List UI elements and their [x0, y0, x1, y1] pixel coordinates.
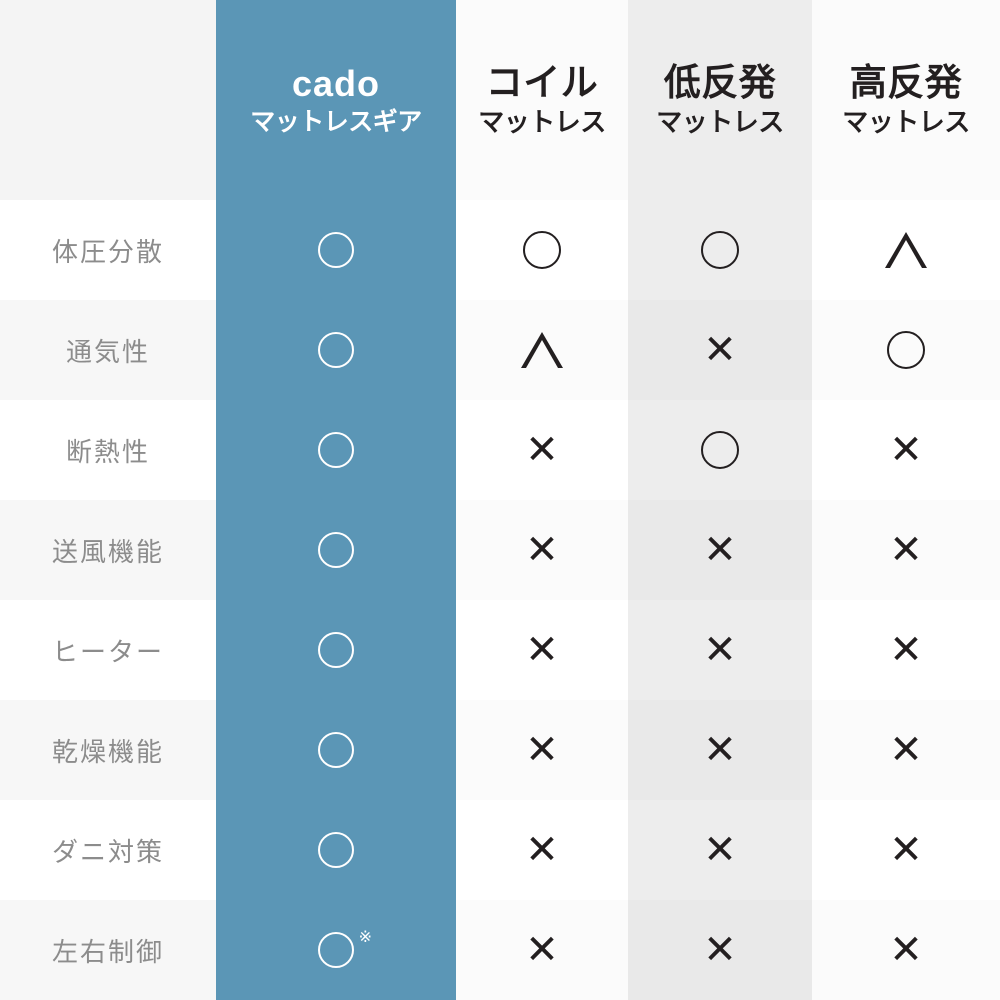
table-cell: ✕ [456, 500, 628, 600]
circle-icon [318, 532, 354, 568]
table-cell [456, 300, 628, 400]
table-cell [216, 400, 456, 500]
cross-icon: ✕ [525, 730, 559, 770]
circle-icon [887, 331, 925, 369]
row-label: 左右制御 [0, 900, 216, 1000]
table-cell [812, 300, 1000, 400]
column-header-high-rebound-line1: 高反発 [842, 62, 970, 105]
mark-with-footnote: ※ [318, 932, 354, 968]
row-label: ヒーター [0, 600, 216, 700]
cross-icon: ✕ [889, 430, 923, 470]
footnote-asterisk-icon: ※ [359, 930, 372, 946]
table-cell [812, 200, 1000, 300]
circle-icon [701, 431, 739, 469]
row-label: 送風機能 [0, 500, 216, 600]
cross-icon: ✕ [703, 530, 737, 570]
table-cell: ✕ [628, 600, 812, 700]
cross-icon: ✕ [889, 730, 923, 770]
column-header-high-rebound: 高反発 マットレス [812, 0, 1000, 200]
cross-icon: ✕ [703, 630, 737, 670]
column-header-low-rebound: 低反発 マットレス [628, 0, 812, 200]
circle-icon [318, 632, 354, 668]
table-cell [628, 400, 812, 500]
column-header-low-rebound-line2: マットレス [656, 108, 784, 138]
row-label: 通気性 [0, 300, 216, 400]
table-cell [216, 800, 456, 900]
circle-icon [318, 232, 354, 268]
circle-icon [318, 732, 354, 768]
table-cell [216, 500, 456, 600]
table-cell: ✕ [456, 900, 628, 1000]
row-label: 乾燥機能 [0, 700, 216, 800]
cross-icon: ✕ [703, 830, 737, 870]
table-cell: ✕ [628, 700, 812, 800]
circle-icon [318, 432, 354, 468]
table-cell: ✕ [628, 800, 812, 900]
column-header-cado-line2: マットレスギア [250, 108, 422, 137]
table-cell [456, 200, 628, 300]
cross-icon: ✕ [703, 930, 737, 970]
table-cell: ✕ [812, 900, 1000, 1000]
column-header-low-rebound-line1: 低反発 [656, 62, 784, 105]
table-cell: ※ [216, 900, 456, 1000]
table-cell: ✕ [456, 800, 628, 900]
table-cell [216, 700, 456, 800]
table-cell [216, 600, 456, 700]
table-cell [216, 200, 456, 300]
column-header-high-rebound-line2: マットレス [842, 108, 970, 138]
cross-icon: ✕ [525, 930, 559, 970]
circle-icon [701, 231, 739, 269]
table-cell: ✕ [812, 500, 1000, 600]
cross-icon: ✕ [889, 930, 923, 970]
cross-icon: ✕ [703, 730, 737, 770]
column-header-cado: cado マットレスギア [216, 0, 456, 200]
cross-icon: ✕ [703, 330, 737, 370]
table-cell: ✕ [456, 600, 628, 700]
table-cell: ✕ [628, 900, 812, 1000]
table-cell [628, 200, 812, 300]
row-label: 断熱性 [0, 400, 216, 500]
cross-icon: ✕ [889, 830, 923, 870]
row-label: 体圧分散 [0, 200, 216, 300]
table-cell: ✕ [456, 400, 628, 500]
table-cell: ✕ [456, 700, 628, 800]
table-cell [216, 300, 456, 400]
circle-icon [318, 932, 354, 968]
table-cell: ✕ [628, 300, 812, 400]
column-header-coil-line2: マットレス [478, 108, 606, 138]
table-cell: ✕ [628, 500, 812, 600]
table-cell: ✕ [812, 400, 1000, 500]
table-cell: ✕ [812, 800, 1000, 900]
cross-icon: ✕ [525, 530, 559, 570]
cross-icon: ✕ [525, 830, 559, 870]
table-cell: ✕ [812, 700, 1000, 800]
table-corner-cell [0, 0, 216, 200]
cross-icon: ✕ [889, 530, 923, 570]
triangle-icon [521, 332, 563, 368]
row-label: ダニ対策 [0, 800, 216, 900]
column-header-cado-line1: cado [250, 63, 422, 104]
comparison-table: cado マットレスギア コイル マットレス 低反発 マットレス 高反発 マット… [0, 0, 1000, 1000]
circle-icon [523, 231, 561, 269]
column-header-coil: コイル マットレス [456, 0, 628, 200]
cross-icon: ✕ [889, 630, 923, 670]
circle-icon [318, 832, 354, 868]
triangle-icon [885, 232, 927, 268]
cross-icon: ✕ [525, 630, 559, 670]
cross-icon: ✕ [525, 430, 559, 470]
circle-icon [318, 332, 354, 368]
table-cell: ✕ [812, 600, 1000, 700]
column-header-coil-line1: コイル [478, 62, 606, 105]
